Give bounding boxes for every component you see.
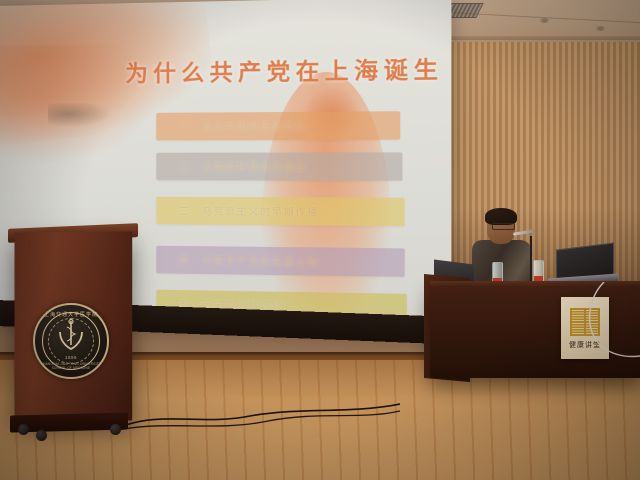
podium-caster [110,424,121,435]
slide-bullet-label: 三、马克思主义的早期传播 [156,204,319,218]
slide-bullet-bar: 二、上海的特殊城市地位 [156,152,402,180]
slide-bullet-bar: 一、近代中国的历史转折 [156,111,400,140]
ceiling-light [540,18,549,23]
slide-bullet-bar: 四、中国共产党的先驱人物 [156,246,404,277]
lecture-hall-photo: 为什么共产党在上海诞生 一、近代中国的历史转折 二、上海的特殊城市地位 三、马克… [0,0,640,480]
podium-caster [18,424,29,435]
podium-caster [36,430,47,441]
slide-bullet-bar: 三、马克思主义的早期传播 [156,197,404,227]
slide-speck-marks [48,103,119,130]
slide-bullet-label: 二、上海的特殊城市地位 [156,160,307,174]
university-emblem: 上海交通大学医学院 1896 SHANGHAI JIAO TONG UNIVER… [33,303,109,379]
slide-bullet-label: 四、中国共产党的先驱人物 [156,253,319,268]
slide-title: 为什么共产党在上海诞生 [125,51,451,88]
table-cable [540,282,640,372]
ceiling-light [596,26,605,31]
emblem-english-name: SHANGHAI JIAO TONG UNIVERSITY SCHOOL OF … [35,362,107,370]
slide-bullet-label: 一、近代中国的历史转折 [156,119,307,133]
glasses-icon [492,223,515,230]
emblem-year: 1896 [35,355,107,360]
emblem-chinese-name: 上海交通大学医学院 [35,311,107,318]
caduceus-icon [56,318,86,352]
